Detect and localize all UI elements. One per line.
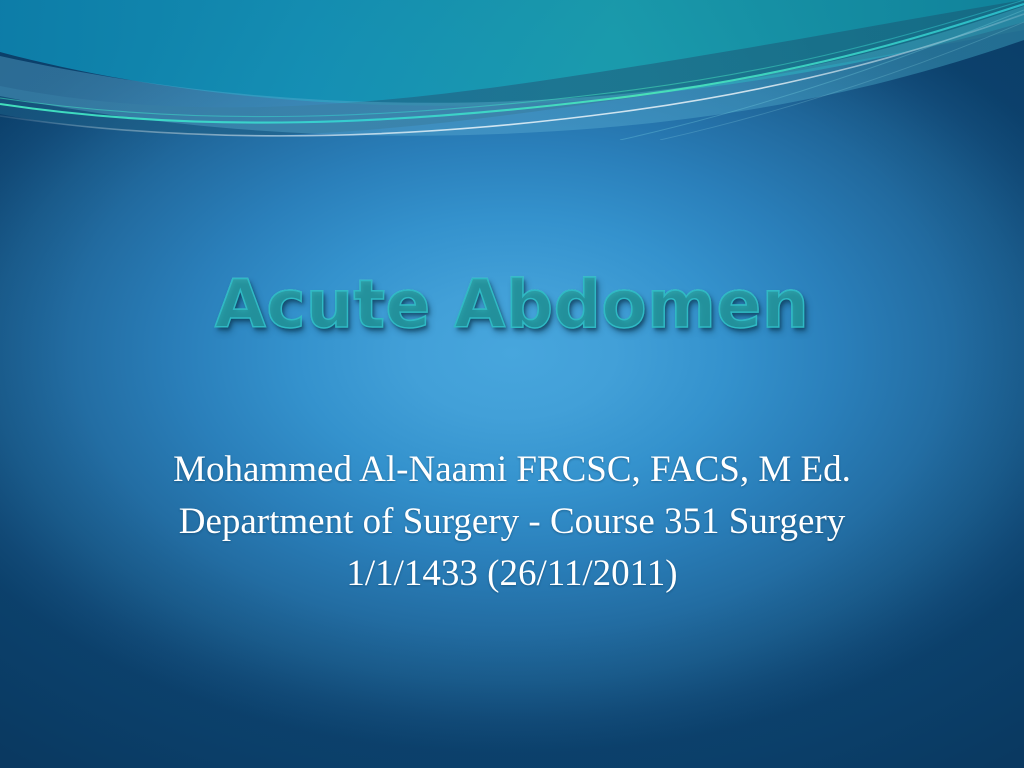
slide-title: Acute Abdomen (0, 272, 1024, 338)
presentation-slide: Acute Abdomen Mohammed Al-Naami FRCSC, F… (0, 0, 1024, 768)
subtitle-line-department: Department of Surgery - Course 351 Surge… (0, 496, 1024, 548)
slide-subtitle: Mohammed Al-Naami FRCSC, FACS, M Ed. Dep… (0, 444, 1024, 600)
decorative-wave-graphic (0, 0, 1024, 140)
subtitle-line-date: 1/1/1433 (26/11/2011) (0, 548, 1024, 600)
subtitle-line-author: Mohammed Al-Naami FRCSC, FACS, M Ed. (0, 444, 1024, 496)
slide-title-text: Acute Abdomen (215, 272, 809, 338)
